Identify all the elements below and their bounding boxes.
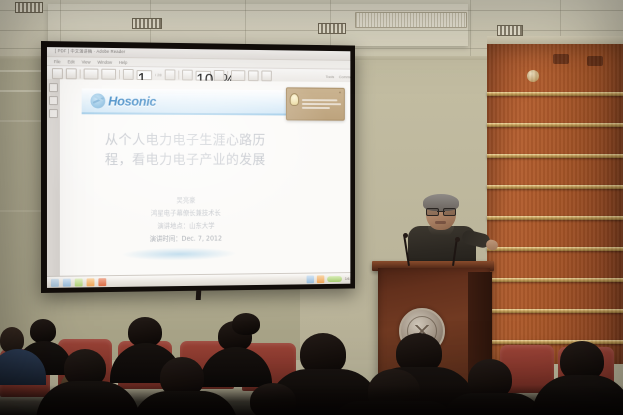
next-page-icon[interactable] (164, 69, 175, 80)
toolbar-separator (80, 69, 81, 78)
brass-strip (487, 185, 623, 189)
tray-network-icon[interactable] (307, 275, 314, 283)
lightbulb-icon (290, 93, 299, 106)
zoom-out-icon[interactable] (182, 70, 193, 81)
previous-page-icon[interactable] (123, 69, 134, 80)
projection-screen: [ PDF ] 中文演讲稿 · Adobe Reader File Edit V… (41, 41, 355, 293)
ceiling-downlight (318, 23, 346, 34)
slide-date-line: 演讲时间：Dec. 7, 2012 (78, 232, 292, 246)
menu-item-view[interactable]: View (82, 59, 91, 64)
fullscreen-icon[interactable] (231, 70, 245, 81)
wall-speaker (553, 54, 569, 64)
brass-strip (487, 154, 623, 158)
page-total-label: / 28 (155, 72, 161, 77)
system-tray: 14:26 (307, 274, 351, 282)
pdf-navigation-pane[interactable] (47, 79, 61, 277)
ceiling-downlight (497, 25, 523, 36)
menu-item-edit[interactable]: Edit (68, 59, 75, 64)
print-icon[interactable] (84, 68, 99, 79)
zoom-level-input[interactable]: 100% (195, 70, 210, 80)
close-icon[interactable]: × (339, 90, 341, 95)
slide-decorative-swoosh (121, 247, 237, 261)
taskbar-item-app-orange[interactable] (87, 278, 95, 286)
bookmarks-icon[interactable] (49, 83, 58, 92)
toast-line-3 (302, 107, 330, 109)
slide-subtitle-block: 吴亮豪 鸿星电子幕僚长兼技术长 演讲地点：山东大学 演讲时间：Dec. 7, 2… (78, 194, 292, 246)
toolbar-separator (119, 70, 120, 79)
projected-image: [ PDF ] 中文演讲稿 · Adobe Reader File Edit V… (47, 47, 350, 288)
tools-panel-button[interactable]: Tools (326, 74, 335, 79)
menu-item-help[interactable]: Help (119, 59, 127, 64)
brass-strip (487, 216, 623, 220)
ceiling-grid-line (0, 30, 623, 31)
ceiling-downlight (132, 18, 162, 29)
start-button-icon[interactable] (51, 278, 59, 286)
toast-message-lines (302, 91, 341, 116)
eyeglasses-icon (426, 208, 456, 214)
slide-title: 从个人电力电子生涯心路历 程，看电力电子产业的发展 (78, 131, 292, 170)
microphone-head (455, 237, 460, 242)
slide-page: Hosonic 从个人电力电子生涯心路历 程，看电力电子产业的发展 吴亮豪 鸿星… (60, 79, 350, 277)
attachments-icon[interactable] (49, 109, 58, 118)
brass-strip (487, 247, 623, 251)
toolbar-separator (178, 71, 179, 80)
ceiling-air-vent (355, 12, 467, 28)
lecture-hall-photo: [ PDF ] 中文演讲稿 · Adobe Reader File Edit V… (0, 0, 623, 415)
foreground-shadow (0, 385, 623, 415)
thumbnails-icon[interactable] (49, 96, 58, 105)
taskbar-item-app-green[interactable] (75, 278, 83, 286)
tray-language-bar[interactable] (327, 276, 342, 282)
audience-head (232, 313, 260, 335)
toolbar-right-group: Tools Comment (326, 74, 351, 79)
reader-notification-toast[interactable]: × (286, 87, 345, 120)
slide-speaker-name: 吴亮豪 (78, 194, 292, 207)
comment-panel-button[interactable]: Comment (339, 74, 350, 79)
hosonic-logo-text: Hosonic (108, 94, 156, 109)
pdf-document-area: Hosonic 从个人电力电子生涯心路历 程，看电力电子产业的发展 吴亮豪 鸿星… (47, 79, 350, 277)
toast-line-2 (302, 103, 341, 105)
speaker-mouth (435, 221, 446, 224)
audience-head (30, 319, 56, 343)
menu-item-window[interactable]: Window (97, 59, 112, 64)
taskbar-item-pdf-reader[interactable] (98, 278, 106, 286)
brass-strip (487, 278, 623, 282)
tray-volume-icon[interactable] (317, 275, 324, 283)
ceiling-downlight (15, 2, 43, 13)
toast-line-1 (302, 99, 337, 101)
ceiling-grid-line (0, 10, 623, 11)
windows-taskbar: 14:26 (47, 272, 350, 288)
ceiling-grid-line (470, 0, 471, 60)
pdf-window-title: [ PDF ] 中文演讲稿 · Adobe Reader (55, 48, 125, 55)
taskbar-clock: 14:26 (345, 276, 351, 281)
page-layout-icon[interactable] (101, 69, 116, 80)
page-number-input[interactable]: 1 (137, 70, 153, 80)
highlight-icon[interactable] (261, 71, 271, 82)
select-tool-icon[interactable] (248, 70, 258, 81)
wall-speaker (587, 56, 603, 66)
slide-title-line-1: 从个人电力电子生涯心路历 (78, 131, 292, 151)
wall-knob (527, 70, 539, 82)
save-icon[interactable] (66, 68, 77, 79)
slide-title-line-2: 程，看电力电子产业的发展 (78, 151, 292, 170)
brass-strip (487, 92, 623, 96)
toolbar-separator (227, 71, 228, 80)
taskbar-item-explorer[interactable] (63, 278, 71, 286)
brass-strip (487, 123, 623, 127)
zoom-in-icon[interactable] (214, 70, 225, 81)
microphone-head (403, 233, 408, 238)
open-file-icon[interactable] (52, 68, 63, 79)
menu-item-file[interactable]: File (54, 59, 61, 64)
audience-area (0, 297, 623, 415)
hosonic-globe-icon (91, 93, 106, 108)
slide-logo-band: Hosonic (82, 88, 289, 115)
